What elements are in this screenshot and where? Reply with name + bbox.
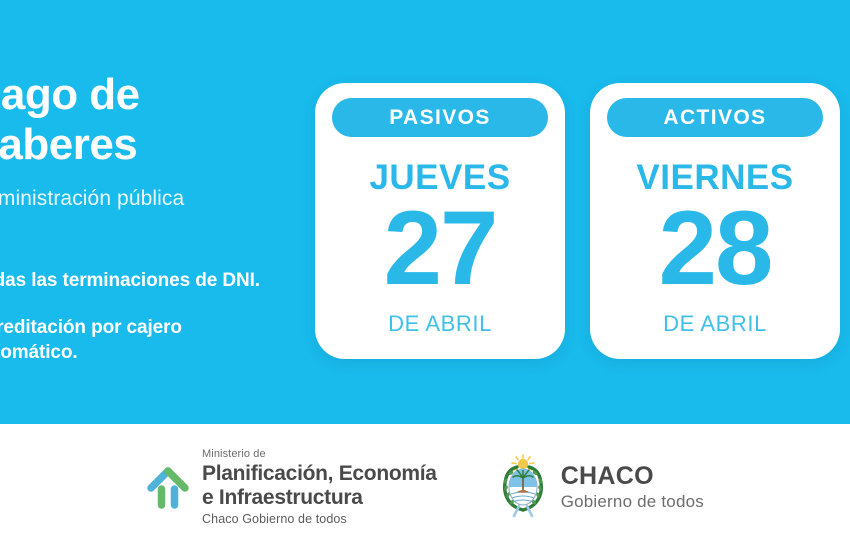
poster-canvas: Pago de haberes Administración pública T…	[0, 0, 850, 550]
ministry-logo-group: Ministerio de Planificación, Economía e …	[146, 449, 437, 526]
page-title-line2: haberes	[0, 120, 137, 169]
status-badge: ACTIVOS	[607, 98, 823, 137]
month-label: DE ABRIL	[315, 311, 565, 337]
footer-logos-bar: Ministerio de Planificación, Economía e …	[0, 424, 850, 550]
month-label: DE ABRIL	[590, 311, 840, 337]
status-badge: PASIVOS	[332, 98, 548, 137]
day-number: 27	[315, 193, 565, 305]
ministry-name-line2: e Infraestructura	[202, 486, 437, 510]
date-card-activos: ACTIVOS VIERNES 28 DE ABRIL	[590, 83, 840, 359]
date-card-pasivos: PASIVOS JUEVES 27 DE ABRIL	[315, 83, 565, 359]
chaco-text-block: CHACO Gobierno de todos	[561, 464, 704, 510]
chaco-name: CHACO	[561, 464, 704, 489]
ministry-prefix: Ministerio de	[202, 449, 437, 460]
house-arrow-icon	[146, 462, 190, 512]
info-bullet-list: Todas las terminaciones de DNI. Acredita…	[0, 268, 292, 365]
chaco-logo-group: CHACO Gobierno de todos	[497, 454, 704, 520]
payment-date-cards: PASIVOS JUEVES 27 DE ABRIL ACTIVOS VIERN…	[315, 83, 850, 359]
page-title: Pago de haberes	[0, 70, 292, 170]
ministry-name-line1: Planificación, Economía	[202, 462, 437, 486]
list-item: Todas las terminaciones de DNI.	[0, 268, 292, 293]
chaco-coat-of-arms-icon	[497, 454, 549, 520]
ministry-tagline: Chaco Gobierno de todos	[202, 513, 437, 526]
left-info-block: Pago de haberes Administración pública T…	[0, 70, 292, 365]
page-title-line1: Pago de	[0, 70, 140, 119]
page-subtitle: Administración pública	[0, 186, 292, 212]
list-item: Acreditación por cajero automático.	[0, 315, 292, 365]
chaco-tagline: Gobierno de todos	[561, 493, 704, 510]
day-number: 28	[590, 193, 840, 305]
ministry-text-block: Ministerio de Planificación, Economía e …	[202, 449, 437, 526]
